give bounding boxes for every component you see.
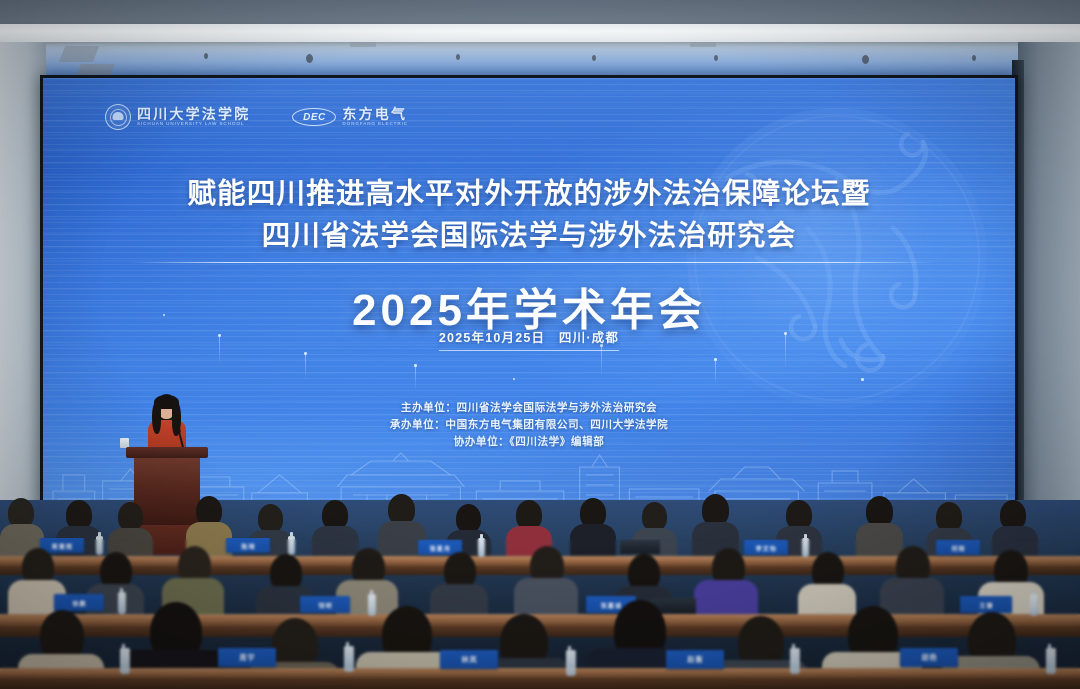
name-placard: 钱明 — [300, 596, 350, 613]
light-particle — [415, 366, 416, 390]
name-placard: 陈琦 — [226, 538, 270, 553]
name-placard: 赵衡 — [666, 650, 724, 669]
ceiling-vent — [690, 42, 716, 47]
placard-name: 蒋惠雨 — [51, 541, 72, 551]
water-bottle — [120, 648, 130, 674]
placard-name: 陈琦 — [241, 541, 255, 551]
water-bottle — [1046, 648, 1056, 674]
ceiling-beam — [0, 24, 1080, 42]
title-line-2: 四川省法学会国际法学与涉外法治研究会 — [43, 216, 1015, 258]
ceiling-light — [972, 55, 976, 61]
placard-name: 周宇 — [239, 652, 255, 662]
audience-head — [456, 504, 481, 533]
speaker-hair-right — [172, 402, 181, 436]
placard-name: 徐鹏 — [72, 598, 86, 608]
desk-row-front — [0, 678, 1080, 689]
water-bottle — [790, 648, 800, 674]
screen-top-glow — [43, 78, 1015, 168]
water-bottle — [802, 538, 809, 557]
name-placard: 李文怡 — [744, 540, 788, 555]
audience-head — [642, 502, 667, 531]
date-place-text: 2025年10月25日 四川·成都 — [439, 327, 619, 351]
water-bottle — [566, 650, 576, 676]
light-particle — [715, 360, 716, 386]
placard-name: 何晓 — [951, 543, 965, 553]
screen-title-block: 赋能四川推进高水平对外开放的涉外法治保障论坛暨 四川省法学会国际法学与涉外法治研… — [43, 174, 1015, 258]
water-bottle — [478, 538, 485, 557]
name-placard: 何晓 — [936, 540, 980, 555]
title-divider — [129, 262, 935, 263]
water-bottle — [368, 594, 376, 616]
name-placard: 林岚 — [440, 650, 498, 669]
conference-hall-scene: 四川大学法学院 SICHUAN UNIVERSITY LAW SCHOOL DE… — [0, 0, 1080, 689]
date-place-line: 2025年10月25日 四川·成都 — [43, 327, 1015, 351]
light-particle — [304, 352, 307, 355]
ceiling-light — [204, 53, 208, 59]
podium-body — [134, 457, 200, 525]
light-particle — [414, 364, 417, 367]
light-particle — [513, 378, 515, 380]
water-bottle — [96, 536, 103, 555]
right-wall — [1018, 42, 1080, 542]
placard-name: 王肇 — [979, 600, 993, 610]
light-particle — [714, 358, 717, 361]
desk-row — [0, 668, 1080, 678]
name-placard: 王肇 — [960, 596, 1012, 613]
ceiling-light — [306, 54, 313, 63]
name-placard: 周宇 — [218, 648, 276, 667]
water-bottle — [1030, 594, 1038, 616]
ceiling-light — [592, 55, 596, 61]
placard-name: 钱明 — [318, 600, 332, 610]
title-line-1: 赋能四川推进高水平对外开放的涉外法治保障论坛暨 — [43, 174, 1015, 216]
audience-head — [118, 502, 143, 531]
water-bottle — [288, 536, 295, 555]
speaker-hair-left — [152, 402, 161, 434]
laptop — [620, 540, 660, 554]
placard-name: 胡杨 — [921, 652, 937, 662]
water-bottle — [344, 646, 354, 672]
ceiling-light — [862, 55, 869, 64]
name-placard: 徐鹏 — [54, 594, 104, 611]
ceiling-light — [456, 54, 460, 60]
ceiling-light — [714, 55, 718, 61]
placard-name: 赵衡 — [687, 654, 703, 664]
placard-name: 张星月 — [429, 543, 450, 553]
ceiling-vent — [59, 46, 99, 62]
ceiling-vent — [350, 42, 376, 47]
name-placard: 胡杨 — [900, 648, 958, 667]
placard-name: 李文怡 — [755, 543, 776, 553]
placard-name: 林岚 — [461, 654, 477, 664]
light-particle — [861, 378, 864, 381]
light-particle — [305, 354, 306, 380]
podium-top — [126, 447, 208, 458]
water-bottle — [118, 592, 126, 614]
audience-head — [258, 504, 283, 533]
placard-name: 张嘉诚 — [600, 600, 621, 610]
